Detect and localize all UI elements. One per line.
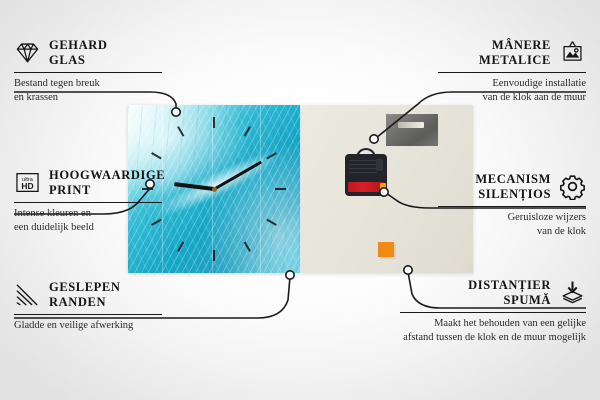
feature-silent-mechanism: MECANISM SILENȚIOS Geruisloze wijzers va… <box>438 172 586 239</box>
feature-title: HOOGWAARDIGE PRINT <box>49 168 165 198</box>
feature-polished-edges: GESLEPEN RANDEN Gladde en veilige afwerk… <box>14 280 162 333</box>
clock-center-cap <box>212 187 217 192</box>
hanging-frame-icon <box>559 39 586 66</box>
feature-rule <box>14 314 162 316</box>
foam-spacer-pad <box>378 242 394 257</box>
feature-desc: Bestand tegen breuk en krassen <box>14 77 162 105</box>
feature-desc: Geruisloze wijzers van de klok <box>438 211 586 239</box>
feature-metal-handles: MÂNERE METALICE Eenvoudige installatie v… <box>438 38 586 105</box>
product-photo <box>128 105 473 273</box>
feature-rule <box>14 72 162 74</box>
feature-desc: Intense kleuren en een duidelijk beeld <box>14 207 162 235</box>
infographic-stage: GEHARD GLAS Bestand tegen breuk en krass… <box>0 0 600 400</box>
mechanism-hanger-loop <box>356 148 376 158</box>
feature-tempered-glass: GEHARD GLAS Bestand tegen breuk en krass… <box>14 38 162 105</box>
feature-rule <box>400 312 586 314</box>
battery-tip <box>380 183 386 191</box>
feature-title: DISTANȚIER SPUMĂ <box>468 278 551 308</box>
mechanism-knob <box>376 159 383 171</box>
feature-title: MÂNERE METALICE <box>479 38 551 68</box>
feature-title: MECANISM SILENȚIOS <box>475 172 551 202</box>
clock-mechanism <box>345 154 387 196</box>
feature-desc: Maakt het behouden van een gelijke afsta… <box>400 317 586 345</box>
feature-desc: Eenvoudige installatie van de klok aan d… <box>438 77 586 105</box>
feature-title: GEHARD GLAS <box>49 38 107 68</box>
feature-title: GESLEPEN RANDEN <box>49 280 121 310</box>
ultra-hd-icon: ultra HD <box>14 169 41 196</box>
feature-rule <box>438 72 586 74</box>
down-arrow-spacer-icon <box>559 279 586 306</box>
feature-rule <box>438 206 586 208</box>
feature-desc: Gladde en veilige afwerking <box>14 319 162 333</box>
diamond-icon <box>14 39 41 66</box>
hanger-slot <box>398 122 424 128</box>
feature-rule <box>14 202 162 204</box>
feature-foam-spacer: DISTANȚIER SPUMĂ Maakt het behouden van … <box>400 278 586 345</box>
svg-text:HD: HD <box>21 181 33 191</box>
bevel-lines-icon <box>14 281 41 308</box>
metal-hanger <box>386 114 438 146</box>
battery <box>348 182 384 192</box>
feature-hd-print: ultra HD HOOGWAARDIGE PRINT Intense kleu… <box>14 168 162 235</box>
gear-icon <box>559 173 586 200</box>
mechanism-ridges <box>349 160 377 174</box>
